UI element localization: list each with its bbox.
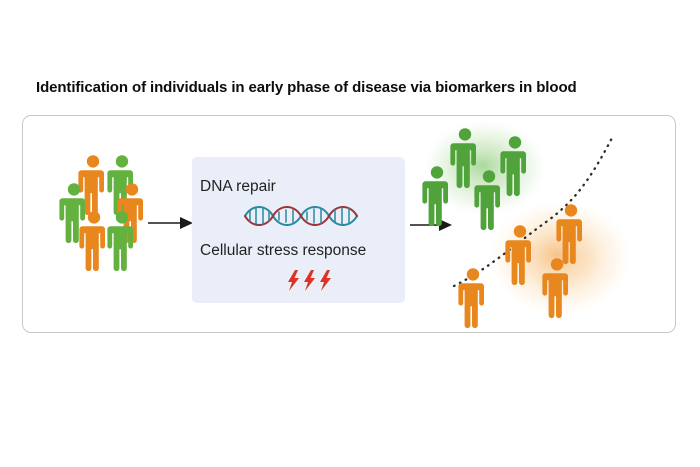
dna-helix-icon [243, 204, 359, 233]
process-label-dna-repair: DNA repair [200, 178, 276, 196]
person-figure [458, 268, 484, 328]
process-label-cellular-stress: Cellular stress response [200, 242, 366, 260]
arrow-right-icon [148, 213, 196, 238]
figure-root: Identification of individuals in early p… [0, 0, 700, 467]
classified-groups-region [420, 118, 670, 328]
lightning-bolts-icon [287, 270, 339, 297]
page-title: Identification of individuals in early p… [36, 79, 668, 97]
mixed-population-cluster [55, 153, 155, 271]
